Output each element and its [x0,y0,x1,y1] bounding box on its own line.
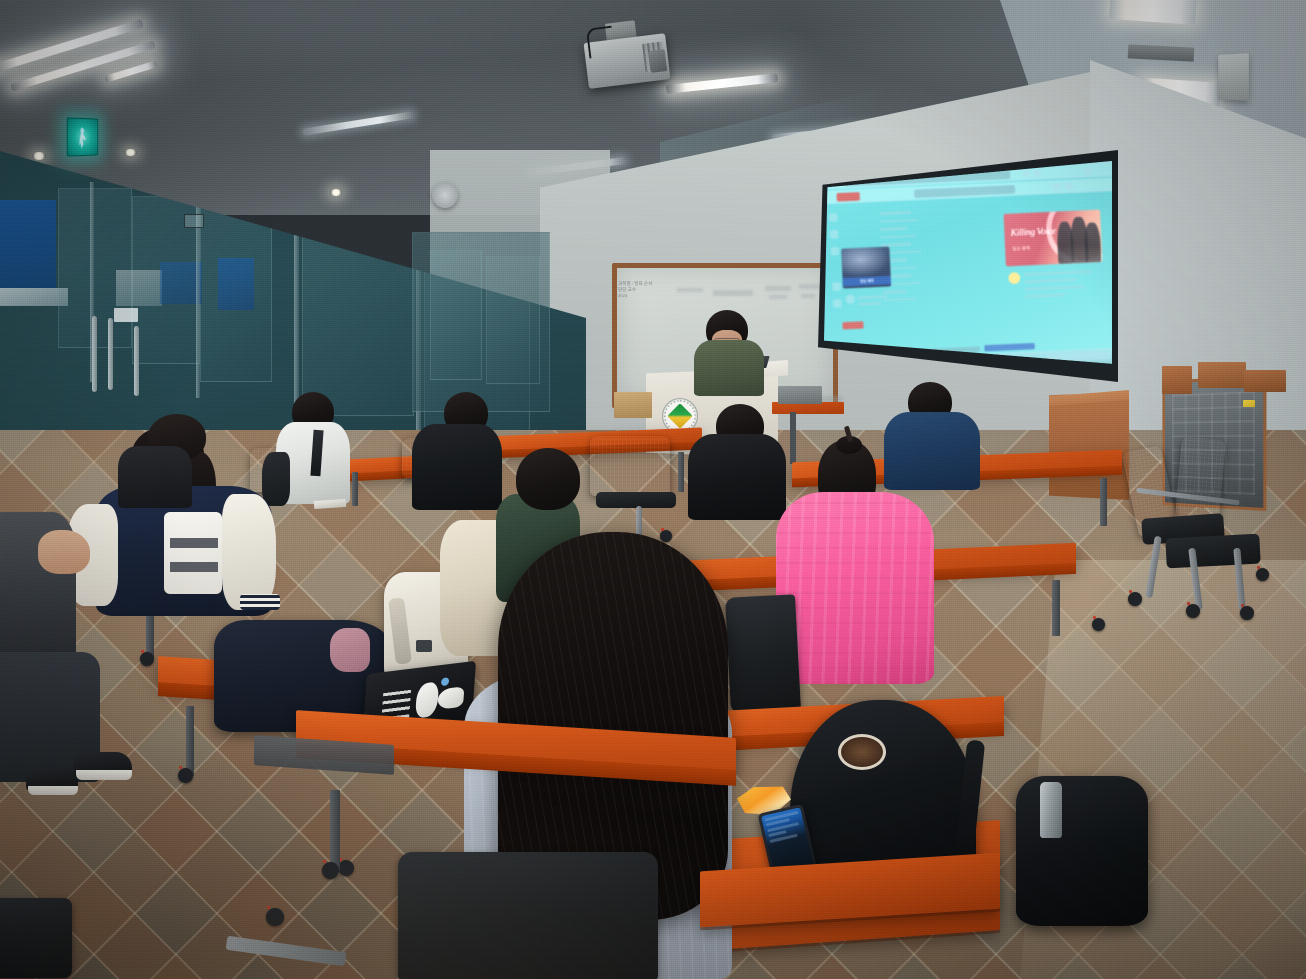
laptop-sleeve-graphic-2 [437,686,464,709]
whiteboard-notes: 과목명 / 발표 순서 담당 교수 2024 [618,281,688,299]
desk-leg [1100,478,1107,526]
wooden-cabinet [1049,392,1129,500]
student-varsity-cuff [240,594,280,610]
video-meta-featured [1025,285,1085,290]
playlist-item[interactable] [883,297,916,301]
desk-leg [678,452,684,492]
downlight-1 [32,152,46,160]
channel-avatar-secondary[interactable] [845,294,855,304]
student-edge-left-shoe-sole-1 [28,786,78,795]
chair-back-pink[interactable] [725,594,801,714]
site-notifications-icon[interactable] [1065,182,1073,190]
glass-notice-frame [184,214,204,228]
site-footer-logo [842,321,863,329]
stacked-chair-seat-2[interactable] [1165,534,1260,569]
nav-home-icon[interactable] [829,213,838,222]
video-meta-featured [1024,270,1091,276]
desk-leg [352,472,358,506]
backpack-black-floor [1016,776,1148,926]
door-handle-2[interactable] [108,318,113,390]
playlist-item[interactable] [883,290,906,294]
nav-history-icon[interactable] [833,299,842,308]
student-black-torso [688,434,786,520]
wall-speaker [1218,53,1249,101]
side-table-box [778,386,822,404]
mullion-3 [294,212,299,418]
chair-caster [1092,618,1105,631]
glass-door-sign [114,308,138,322]
video-meta-secondary [858,302,881,306]
box-on-floor-left [614,392,652,418]
student-varsity-shirt-text [170,524,218,572]
thumb-left-art [841,246,891,278]
tote-bag-opening [838,734,886,770]
taskbar-active-window[interactable] [984,343,1035,352]
site-upload-icon[interactable] [1053,183,1061,191]
chair-caster [266,908,284,926]
chair-caster [1186,604,1200,618]
presenter-torso [694,340,764,396]
playlist-item[interactable] [879,211,911,215]
desk-leg [330,790,340,872]
video-meta-featured [1024,278,1077,283]
stacked-desk-top-1 [1162,366,1192,394]
channel-avatar-featured[interactable] [1008,272,1020,284]
chair-seat-mid-1[interactable] [596,492,676,508]
chair-caster [1128,592,1142,606]
kv-subtitle: 딩고 뮤직 [1012,244,1054,252]
chair-back-foreground[interactable] [398,852,658,979]
video-meta-featured [1025,293,1065,297]
whiteboard-smudge-3 [769,295,787,299]
site-logo[interactable] [837,192,860,201]
laptop-sleeve-graphic-1 [415,681,439,718]
side-table-leg [790,412,796,464]
projected-desktop: 영상 제목 Killing Voice 딩고 뮤직 [824,160,1112,370]
desk-leg [186,706,194,776]
projection-screen: 영상 제목 Killing Voice 딩고 뮤직 [824,160,1112,370]
poster-blue-right [218,258,254,310]
browser-extension-2[interactable] [1033,169,1041,177]
student-white-shirt-arm [262,452,290,506]
student-varsity-sleeve-right [222,494,276,610]
chair-caster [1240,606,1254,620]
playlist-item[interactable] [880,218,918,222]
student-beige-green-head [516,448,580,510]
downlight-3 [330,189,342,196]
downlight-2 [124,149,137,156]
nav-subscriptions-icon[interactable] [831,247,840,256]
chair-caster [338,860,354,876]
whiteboard-smudge-4 [799,284,821,289]
playlist-item[interactable] [880,234,916,238]
student-edge-left-shoe-sole-2 [76,770,132,780]
student-behind-left-torso [118,446,192,508]
desk-leg [1052,580,1060,636]
door-handle-3[interactable] [134,326,139,396]
whiteboard-smudge-5 [801,294,815,298]
video-title-bar: 영상 제목 [842,276,891,287]
chair-back-mid-1[interactable] [590,436,670,496]
running-person-icon [78,127,86,149]
glass-panel-far-1[interactable] [430,250,482,380]
video-thumbnail-secondary[interactable]: 영상 제목 [841,246,891,288]
jacket-pink-lining [330,628,370,672]
glass-panel-4[interactable] [302,226,414,416]
browser-extension-1[interactable] [1023,170,1031,178]
classroom-photo: 과목명 / 발표 순서 담당 교수 2024 [0,0,1306,979]
stacked-desk-top-3 [1244,370,1286,392]
projector-lens [649,49,668,73]
chair-caster [660,530,672,542]
student-pink-cable-knit-texture [776,492,934,684]
playlist-item[interactable] [880,227,907,231]
water-bottle [1040,782,1062,838]
nav-library-icon[interactable] [832,282,841,291]
ceiling-speaker-small [432,182,458,208]
whiteboard-smudge-2 [765,286,791,291]
student-navy-torso [884,412,980,490]
chair-caster [1256,568,1269,581]
poster-blue-left [0,200,56,288]
chair-caster [178,768,193,783]
whiteboard-smudge-1 [713,290,753,296]
poster-white-mid [116,270,162,306]
projector-cable [586,26,615,59]
door-handle-1[interactable] [92,316,97,392]
student-edge-left-arm [38,530,90,574]
chair-caster [140,652,154,666]
student-dark-jacket-torso [412,424,502,510]
glass-panel-far-2[interactable] [486,256,540,384]
nav-explore-icon[interactable] [830,230,839,239]
backpack-white-buckle [416,640,432,652]
exit-sign [67,117,99,156]
laptop-sleeve-graphic-dot [441,677,450,686]
video-thumbnail-featured[interactable]: Killing Voice 딩고 뮤직 [1004,210,1103,267]
sticky-note-shelf [1243,400,1255,407]
stacked-desk-top-2 [1198,362,1246,388]
chair-back-edge-left[interactable] [0,898,72,978]
chair-caster [322,862,339,879]
